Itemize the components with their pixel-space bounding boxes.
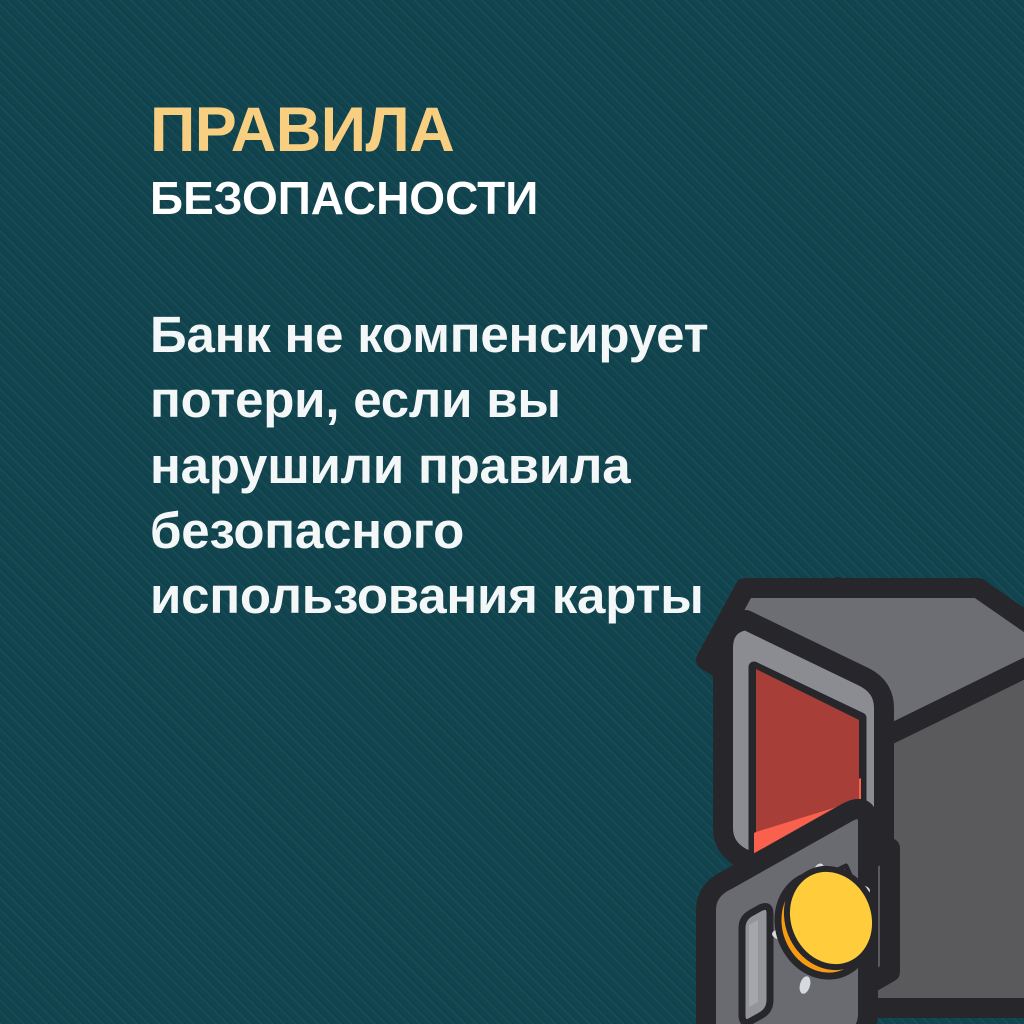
page-title-kicker: ПРАВИЛА	[150, 98, 850, 164]
body-copy: Банк не компенсирует потери, если вы нар…	[150, 302, 810, 628]
poster-canvas: ПРАВИЛА БЕЗОПАСНОСТИ Банк не компенсируе…	[0, 0, 1024, 1024]
text-block: ПРАВИЛА БЕЗОПАСНОСТИ Банк не компенсируе…	[150, 98, 850, 628]
page-title-subkicker: БЕЗОПАСНОСТИ	[150, 173, 850, 225]
door-handle[interactable]	[742, 906, 770, 1022]
door-handle-highlight	[749, 920, 758, 1007]
